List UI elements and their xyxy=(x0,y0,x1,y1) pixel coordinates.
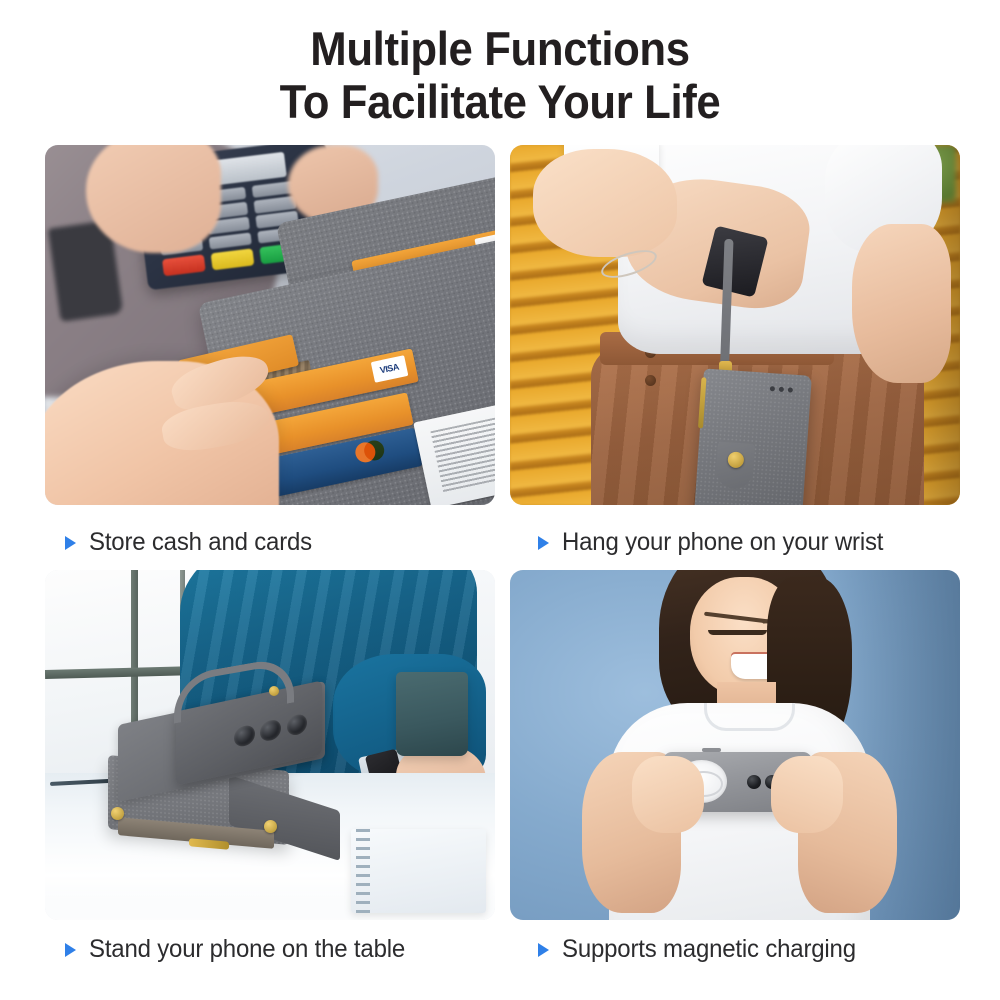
coffee-mug xyxy=(396,672,468,756)
tshirt-collar xyxy=(704,703,796,731)
feature-panel-store-cash-and-cards: VISA VISA xyxy=(45,145,495,505)
photo-magnetic-charging xyxy=(510,570,960,920)
caption-text: Supports magnetic charging xyxy=(562,935,856,964)
caption-text: Store cash and cards xyxy=(89,528,312,557)
page-title-line-2: To Facilitate Your Life xyxy=(35,75,965,128)
spiral-notebook xyxy=(351,829,486,913)
caption-stand-on-table: Stand your phone on the table xyxy=(65,935,418,964)
photo-store-cash-and-cards: VISA VISA xyxy=(45,145,495,505)
caption-text: Hang your phone on your wrist xyxy=(562,528,883,557)
mastercard-logo-icon xyxy=(354,439,385,470)
feature-panel-hang-on-wrist xyxy=(510,145,960,505)
right-hand xyxy=(771,756,843,833)
eye xyxy=(708,630,767,635)
triangle-right-icon xyxy=(538,536,549,550)
triangle-right-icon xyxy=(538,943,549,957)
photo-stand-on-table xyxy=(45,570,495,920)
id-text-lines xyxy=(431,407,495,494)
card-logo-tag: VISA xyxy=(370,355,408,383)
wallet-case xyxy=(694,368,812,505)
caption-magnetic-charging: Supports magnetic charging xyxy=(538,935,868,964)
caption-store-cash-and-cards: Store cash and cards xyxy=(65,528,321,557)
feature-panel-magnetic-charging xyxy=(510,570,960,920)
caption-text: Stand your phone on the table xyxy=(89,935,405,964)
triangle-right-icon xyxy=(65,943,76,957)
zipper-pull xyxy=(189,839,229,851)
wallet-case-stand xyxy=(108,696,360,864)
page-title: Multiple Functions To Facilitate Your Li… xyxy=(35,22,965,128)
photo-hang-on-wrist xyxy=(510,145,960,505)
right-arm xyxy=(852,224,951,382)
triangle-right-icon xyxy=(65,536,76,550)
left-hand xyxy=(533,149,677,257)
side-button xyxy=(702,748,721,752)
caption-hang-on-wrist: Hang your phone on your wrist xyxy=(538,528,897,557)
feature-panel-stand-on-table xyxy=(45,570,495,920)
page-title-line-1: Multiple Functions xyxy=(35,22,965,75)
metal-stud xyxy=(111,807,124,820)
left-hand xyxy=(632,756,704,833)
